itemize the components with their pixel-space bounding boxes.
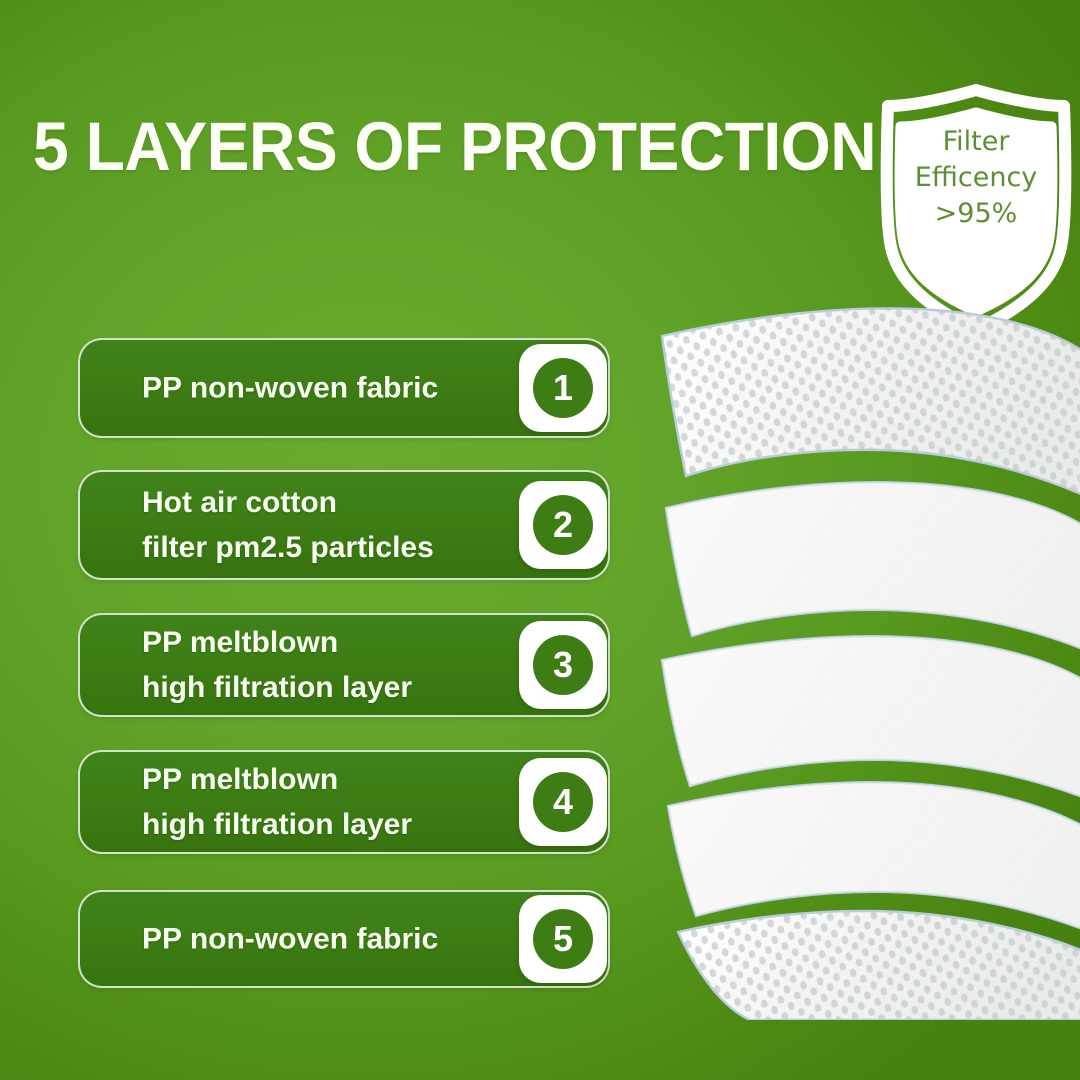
layer-badge-5: 5: [519, 895, 607, 983]
layer-label-3: PP meltblown high filtration layer: [142, 620, 412, 710]
mask-sheet-4: [668, 782, 1080, 932]
shield-line-1: Filter: [872, 124, 1080, 160]
mask-sheet-3: [662, 636, 1080, 800]
layer-badge-3: 3: [519, 621, 607, 709]
layer-badge-4: 4: [519, 758, 607, 846]
layer-number-4: 4: [533, 772, 593, 832]
mask-sheet-5: [678, 911, 1080, 1020]
layer-label-4: PP meltblown high filtration layer: [142, 757, 412, 847]
page-title: 5 LAYERS OF PROTECTION: [33, 112, 833, 181]
shield-text-block: Filter Efficency >95%: [872, 124, 1080, 233]
shield-line-3: >95%: [872, 196, 1080, 232]
layer-row-1[interactable]: PP non-woven fabric 1: [78, 338, 610, 438]
layer-row-4[interactable]: PP meltblown high filtration layer 4: [78, 750, 610, 854]
layer-number-2: 2: [533, 495, 593, 555]
layer-row-5[interactable]: PP non-woven fabric 5: [78, 890, 610, 988]
mask-sheet-1: [662, 308, 1080, 498]
layer-row-3[interactable]: PP meltblown high filtration layer 3: [78, 613, 610, 717]
layer-number-5: 5: [533, 909, 593, 969]
layer-label-5: PP non-woven fabric: [142, 917, 438, 962]
layer-label-1: PP non-woven fabric: [142, 366, 438, 411]
mask-sheet-2: [666, 482, 1080, 652]
infographic-poster: 5 LAYERS OF PROTECTION Filter Efficency …: [0, 0, 1080, 1080]
layer-number-1: 1: [533, 358, 593, 418]
layer-label-2: Hot air cotton filter pm2.5 particles: [142, 480, 434, 570]
shield-line-2: Efficency: [872, 160, 1080, 196]
layer-badge-2: 2: [519, 481, 607, 569]
layer-badge-1: 1: [519, 344, 607, 432]
layer-number-3: 3: [533, 635, 593, 695]
layer-row-2[interactable]: Hot air cotton filter pm2.5 particles 2: [78, 470, 610, 580]
mask-layer-stack: [600, 260, 1080, 1020]
